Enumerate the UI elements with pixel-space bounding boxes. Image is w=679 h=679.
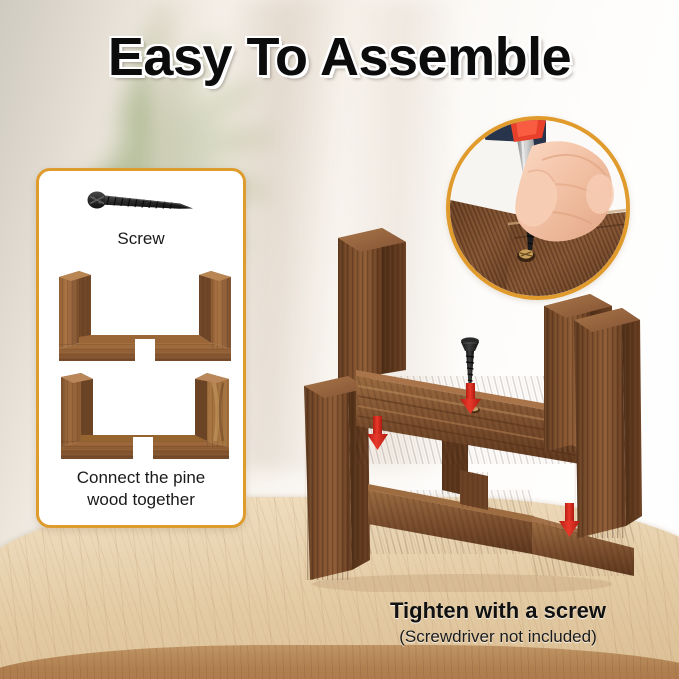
u-shaped-wood-frame-icon [57, 371, 233, 463]
screw-icon [85, 191, 201, 221]
u-shaped-wood-frame-icon [57, 269, 233, 365]
infographic-canvas: Easy To Assemble [0, 0, 679, 679]
connect-instruction: Connect the pine wood together [39, 467, 243, 511]
caption-main: Tighten with a screw [330, 598, 666, 624]
assembled-wood-plant-stand [282, 224, 642, 592]
bottom-caption: Tighten with a screw (Screwdriver not in… [330, 598, 666, 647]
screw-label: Screw [39, 229, 243, 249]
caption-sub: (Screwdriver not included) [330, 627, 666, 647]
connect-instruction-line1: Connect the pine [39, 467, 243, 489]
connect-instruction-line2: wood together [39, 489, 243, 511]
page-title: Easy To Assemble [0, 26, 679, 88]
parts-card: Screw [36, 168, 246, 528]
